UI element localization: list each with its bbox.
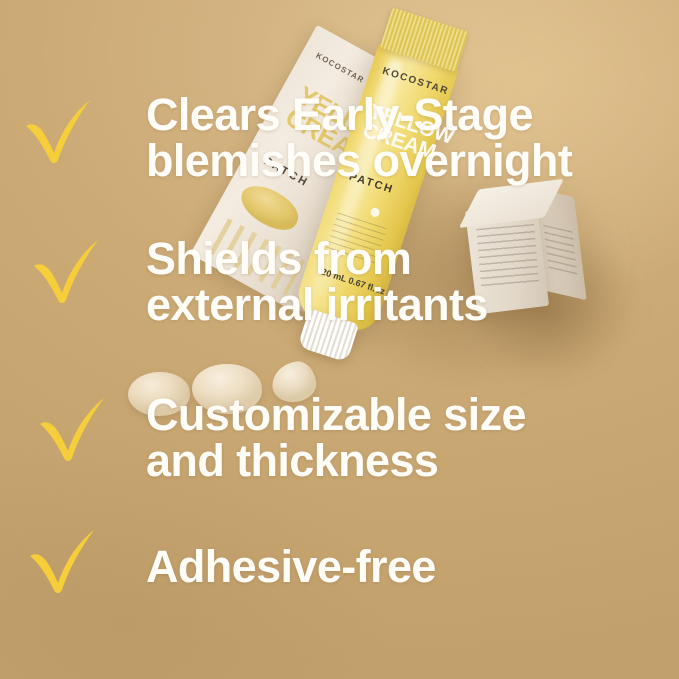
benefit-line-3b: and thickness xyxy=(146,438,526,484)
benefit-line-2b: external irritants xyxy=(146,282,488,328)
benefit-line-3a: Customizable size xyxy=(146,392,526,438)
checkmark-icon xyxy=(22,96,98,166)
benefit-line-1a: Clears Early-Stage xyxy=(146,92,572,138)
product-benefits-graphic: KOCOSTAR YELLOW CREAM PATCH KOCOSTAR YEL… xyxy=(0,0,679,679)
benefit-text-2: Shields from external irritants xyxy=(146,236,488,328)
benefit-text-3: Customizable size and thickness xyxy=(146,392,526,484)
checkmark-icon xyxy=(36,394,112,464)
benefit-line-1b: blemishes overnight xyxy=(146,138,572,184)
checkmark-icon xyxy=(30,236,106,306)
benefits-list: Clears Early-Stage blemishes overnight S… xyxy=(0,0,679,679)
benefit-text-4: Adhesive-free xyxy=(146,544,436,590)
checkmark-icon xyxy=(26,526,102,596)
benefit-line-2a: Shields from xyxy=(146,236,488,282)
benefit-text-1: Clears Early-Stage blemishes overnight xyxy=(146,92,572,184)
benefit-line-4a: Adhesive-free xyxy=(146,544,436,590)
